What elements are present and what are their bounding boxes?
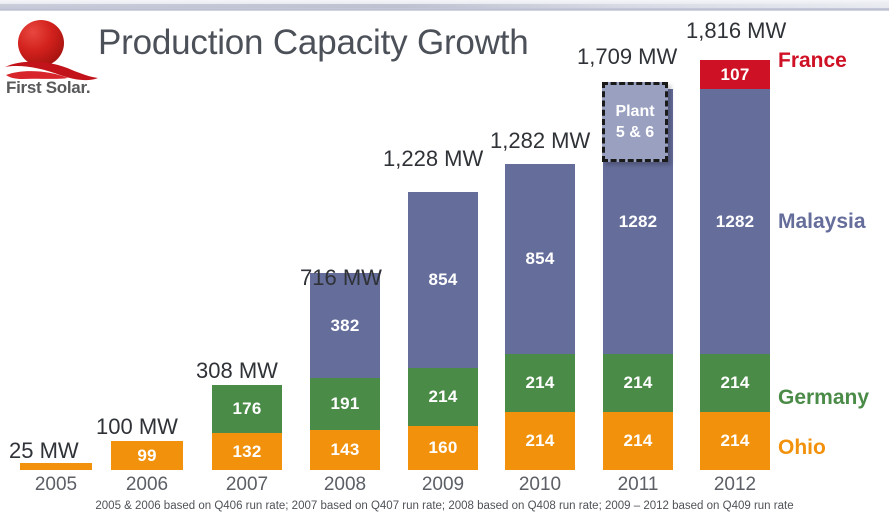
bar-segment-ohio-2009[interactable]: 160 bbox=[408, 426, 478, 470]
legend-label-malaysia: Malaysia bbox=[778, 210, 866, 234]
bar-segment-ohio-2006[interactable]: 99 bbox=[111, 441, 183, 470]
bar-group-2012[interactable]: 107 1282 214 214 bbox=[700, 60, 770, 470]
bar-segment-value: 99 bbox=[137, 446, 156, 466]
bar-total-2011: 1,709 MW bbox=[577, 44, 677, 70]
bar-total-2006: 100 MW bbox=[96, 414, 178, 440]
bar-segment-germany-2012[interactable]: 214 bbox=[700, 354, 770, 412]
bar-segment-ohio-2011[interactable]: 214 bbox=[603, 412, 673, 470]
bar-segment-value: 160 bbox=[429, 438, 458, 458]
x-axis-label-2005: 2005 bbox=[20, 474, 92, 496]
bar-segment-ohio-2005[interactable] bbox=[20, 463, 92, 470]
plant-5-6-line1: Plant bbox=[615, 101, 654, 122]
plant-5-6-annotation[interactable]: Plant 5 & 6 bbox=[602, 82, 668, 162]
chart-footnote: 2005 & 2006 based on Q406 run rate; 2007… bbox=[0, 500, 889, 512]
x-axis-label-2009: 2009 bbox=[408, 474, 478, 496]
bar-total-2007: 308 MW bbox=[196, 358, 278, 384]
bar-segment-ohio-2008[interactable]: 143 bbox=[310, 430, 380, 470]
legend-label-germany: Germany bbox=[778, 386, 869, 410]
bar-segment-value: 214 bbox=[526, 431, 555, 451]
bar-segment-germany-2010[interactable]: 214 bbox=[505, 354, 575, 412]
bar-segment-value: 214 bbox=[624, 431, 653, 451]
bar-segment-value: 854 bbox=[526, 249, 555, 269]
x-axis-label-2006: 2006 bbox=[111, 474, 183, 496]
bar-group-2010[interactable]: 854 214 214 bbox=[505, 164, 575, 470]
x-axis-label-2011: 2011 bbox=[603, 474, 673, 496]
bar-total-2005: 25 MW bbox=[9, 438, 79, 464]
bar-segment-value: 854 bbox=[429, 270, 458, 290]
bar-segment-value: 191 bbox=[331, 394, 360, 414]
stacked-bar-chart: 25 MW 2005 99 100 MW 2006 176 132 308 MW… bbox=[0, 0, 889, 519]
x-axis-label-2010: 2010 bbox=[505, 474, 575, 496]
bar-group-2006[interactable]: 99 bbox=[111, 441, 183, 470]
plant-5-6-line2: 5 & 6 bbox=[616, 122, 654, 143]
bar-segment-value: 214 bbox=[429, 387, 458, 407]
bar-segment-value: 107 bbox=[721, 65, 750, 85]
bar-segment-malaysia-2009[interactable]: 854 bbox=[408, 192, 478, 368]
bar-group-2007[interactable]: 176 132 bbox=[212, 385, 282, 470]
bar-segment-ohio-2007[interactable]: 132 bbox=[212, 433, 282, 470]
bar-segment-malaysia-2012[interactable]: 1282 bbox=[700, 89, 770, 354]
bar-segment-germany-2007[interactable]: 176 bbox=[212, 385, 282, 433]
bar-segment-value: 214 bbox=[526, 373, 555, 393]
bar-segment-value: 382 bbox=[331, 316, 360, 336]
bar-total-2012: 1,816 MW bbox=[686, 18, 786, 44]
bar-segment-ohio-2010[interactable]: 214 bbox=[505, 412, 575, 470]
bar-segment-value: 143 bbox=[331, 440, 360, 460]
bar-group-2008[interactable]: 382 191 143 bbox=[310, 273, 380, 470]
bar-segment-germany-2011[interactable]: 214 bbox=[603, 354, 673, 412]
bar-segment-france-2012[interactable]: 107 bbox=[700, 60, 770, 89]
legend-label-ohio: Ohio bbox=[778, 436, 826, 460]
bar-total-2008: 716 MW bbox=[300, 265, 382, 291]
bar-segment-value: 214 bbox=[721, 431, 750, 451]
bar-segment-value: 214 bbox=[624, 373, 653, 393]
bar-segment-value: 132 bbox=[233, 442, 262, 462]
bar-segment-ohio-2012[interactable]: 214 bbox=[700, 412, 770, 470]
bar-segment-malaysia-2010[interactable]: 854 bbox=[505, 164, 575, 354]
bar-total-2009: 1,228 MW bbox=[383, 146, 483, 172]
bar-segment-value: 176 bbox=[233, 399, 262, 419]
bar-group-2005[interactable] bbox=[20, 463, 92, 470]
x-axis-label-2007: 2007 bbox=[212, 474, 282, 496]
x-axis-label-2008: 2008 bbox=[310, 474, 380, 496]
legend-label-france: France bbox=[778, 49, 847, 73]
bar-total-2010: 1,282 MW bbox=[490, 128, 590, 154]
x-axis-label-2012: 2012 bbox=[700, 474, 770, 496]
bar-segment-value: 1282 bbox=[619, 212, 658, 232]
bar-segment-germany-2009[interactable]: 214 bbox=[408, 368, 478, 426]
bar-segment-value: 1282 bbox=[716, 212, 755, 232]
bar-segment-value: 214 bbox=[721, 373, 750, 393]
bar-segment-germany-2008[interactable]: 191 bbox=[310, 378, 380, 430]
bar-group-2009[interactable]: 854 214 160 bbox=[408, 192, 478, 470]
